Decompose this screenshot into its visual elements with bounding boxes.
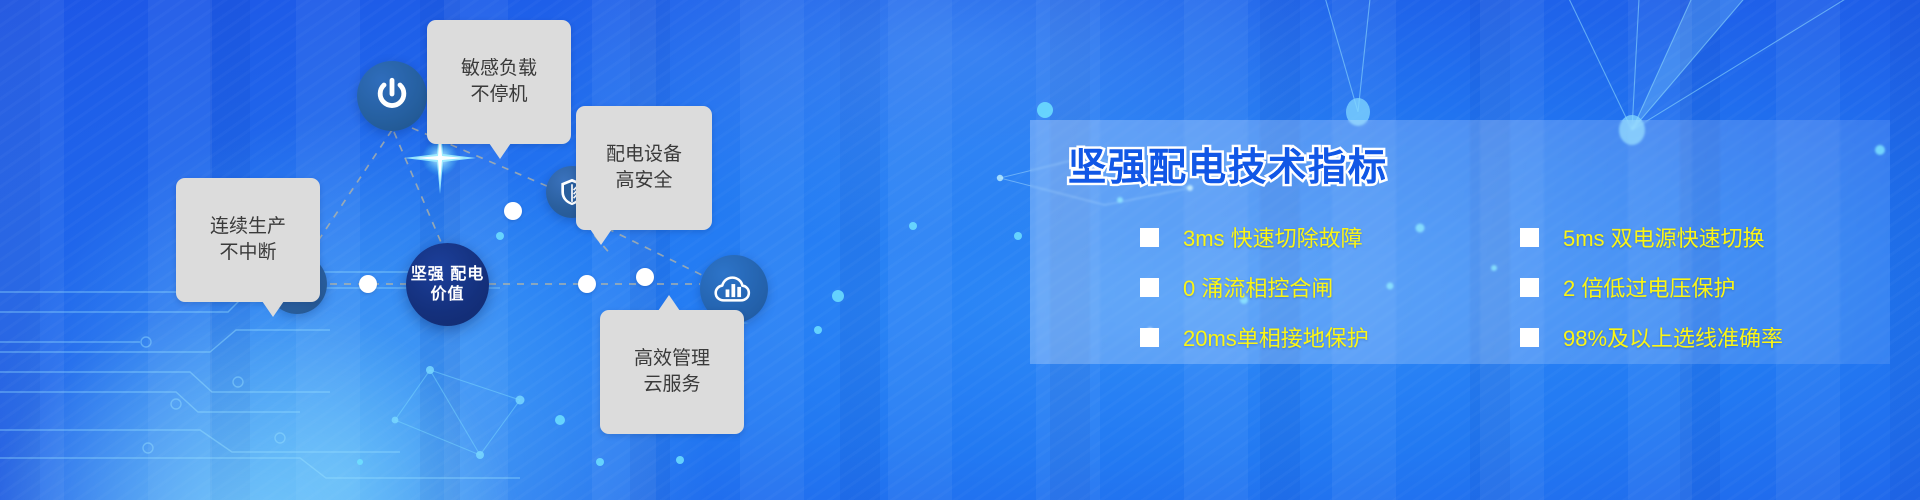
spec-label: 2 倍低过电压保护 <box>1563 271 1735 303</box>
center-node[interactable]: 坚强 配电 价值 <box>406 243 489 326</box>
callout-text: 敏感负载 不停机 <box>461 58 537 105</box>
power-icon <box>372 76 412 116</box>
connector-dot <box>359 275 377 293</box>
callout-continuous-production: 连续生产 不中断 <box>176 178 320 302</box>
center-node-label: 坚强 配电 价值 <box>406 265 489 305</box>
spec-item: 3ms 快速切除故障 <box>1140 212 1500 262</box>
spec-item: 2 倍低过电压保护 <box>1520 262 1880 312</box>
spec-label: 98%及以上选线准确率 <box>1563 321 1783 353</box>
spec-item: 5ms 双电源快速切换 <box>1520 212 1880 262</box>
connector-dot <box>504 202 522 220</box>
banner-stage: 坚强配电技术指标 坚强配电技术指标 3ms 快速切除故障 5ms 双电源快速切换… <box>0 0 1920 500</box>
square-marker-icon <box>1520 328 1539 347</box>
square-marker-icon <box>1140 228 1159 247</box>
callout-tail <box>658 295 680 311</box>
square-marker-icon <box>1520 228 1539 247</box>
callout-text: 高效管理 云服务 <box>634 348 710 395</box>
spec-label: 0 涌流相控合闸 <box>1183 271 1333 303</box>
connector-dot <box>578 275 596 293</box>
spec-label: 5ms 双电源快速切换 <box>1563 221 1765 253</box>
page-title: 坚强配电技术指标 <box>1068 136 1388 191</box>
square-marker-icon <box>1140 278 1159 297</box>
spec-item: 20ms单相接地保护 <box>1140 312 1500 362</box>
cloud-chart-icon <box>713 268 755 310</box>
callout-tail <box>489 143 511 159</box>
node-power[interactable] <box>357 61 427 131</box>
callout-tail <box>590 229 612 245</box>
callout-text: 配电设备 高安全 <box>606 144 682 191</box>
callout-sensitive-load: 敏感负载 不停机 <box>427 20 571 144</box>
callout-cloud-service: 高效管理 云服务 <box>600 310 744 434</box>
square-marker-icon <box>1520 278 1539 297</box>
spec-item: 98%及以上选线准确率 <box>1520 312 1880 362</box>
spec-label: 20ms单相接地保护 <box>1183 321 1369 353</box>
callout-text: 连续生产 不中断 <box>210 216 286 263</box>
square-marker-icon <box>1140 328 1159 347</box>
spec-label: 3ms 快速切除故障 <box>1183 221 1363 253</box>
callout-equipment-safety: 配电设备 高安全 <box>576 106 712 230</box>
callout-tail <box>262 301 284 317</box>
specs-grid: 3ms 快速切除故障 5ms 双电源快速切换 0 涌流相控合闸 2 倍低过电压保… <box>1140 212 1880 362</box>
spec-item: 0 涌流相控合闸 <box>1140 262 1500 312</box>
connector-dot <box>636 268 654 286</box>
